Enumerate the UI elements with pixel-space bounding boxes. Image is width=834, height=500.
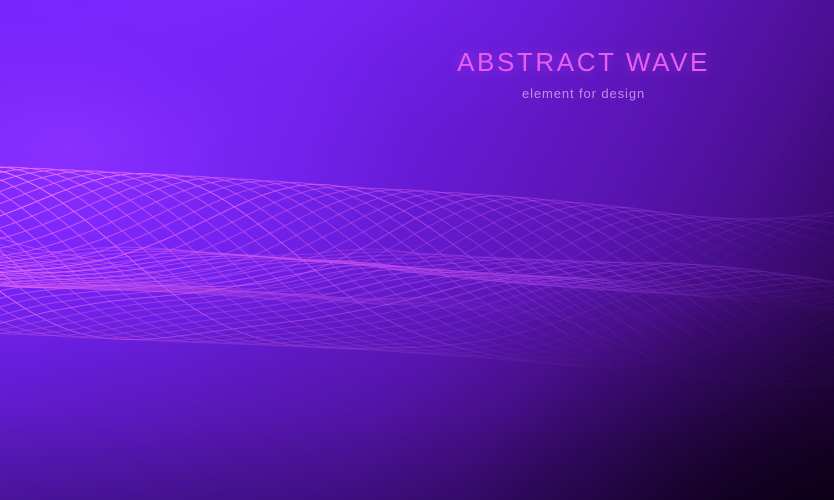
page-title: ABSTRACT WAVE <box>457 48 710 77</box>
poster-canvas: ABSTRACT WAVE element for design <box>0 0 834 500</box>
page-subtitle: element for design <box>457 86 710 101</box>
text-block: ABSTRACT WAVE element for design <box>457 48 710 101</box>
